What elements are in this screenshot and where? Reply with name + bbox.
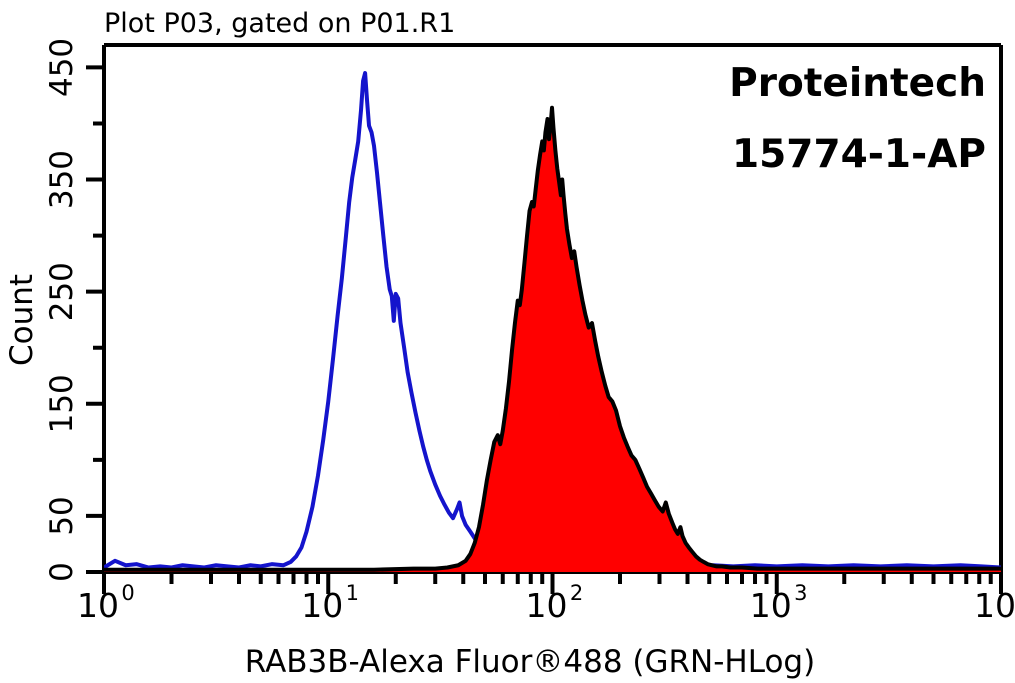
- x-tick-label-base: 10: [526, 586, 568, 625]
- brand-annotation: Proteintech: [729, 61, 986, 106]
- plot-title: Plot P03, gated on P01.R1: [104, 8, 455, 39]
- x-tick-label: 104: [974, 581, 1015, 625]
- flow-cytometry-histogram: Plot P03, gated on P01.R1 05015025035045…: [0, 0, 1015, 683]
- y-tick-label: 150: [44, 374, 80, 433]
- y-tick-label: 450: [44, 38, 80, 97]
- catalog-annotation: 15774-1-AP: [732, 132, 986, 177]
- x-tick-label-exponent: 0: [121, 581, 134, 605]
- x-tick-label-base: 10: [974, 586, 1015, 625]
- y-tick-label: 50: [44, 496, 80, 535]
- x-tick-label-exponent: 2: [570, 581, 583, 605]
- x-tick-label-base: 10: [301, 586, 343, 625]
- x-tick-label-exponent: 1: [346, 581, 359, 605]
- x-tick-label-base: 10: [77, 586, 119, 625]
- x-tick-label-base: 10: [750, 586, 792, 625]
- x-axis-label: RAB3B-Alexa Fluor®488 (GRN-HLog): [245, 644, 815, 680]
- chart-canvas: Plot P03, gated on P01.R1 05015025035045…: [0, 0, 1015, 683]
- y-tick-label: 250: [44, 262, 80, 321]
- y-tick-label: 350: [44, 150, 80, 209]
- y-tick-label: 0: [44, 562, 80, 582]
- x-tick-label-exponent: 3: [794, 581, 807, 605]
- y-axis-label: Count: [4, 274, 40, 366]
